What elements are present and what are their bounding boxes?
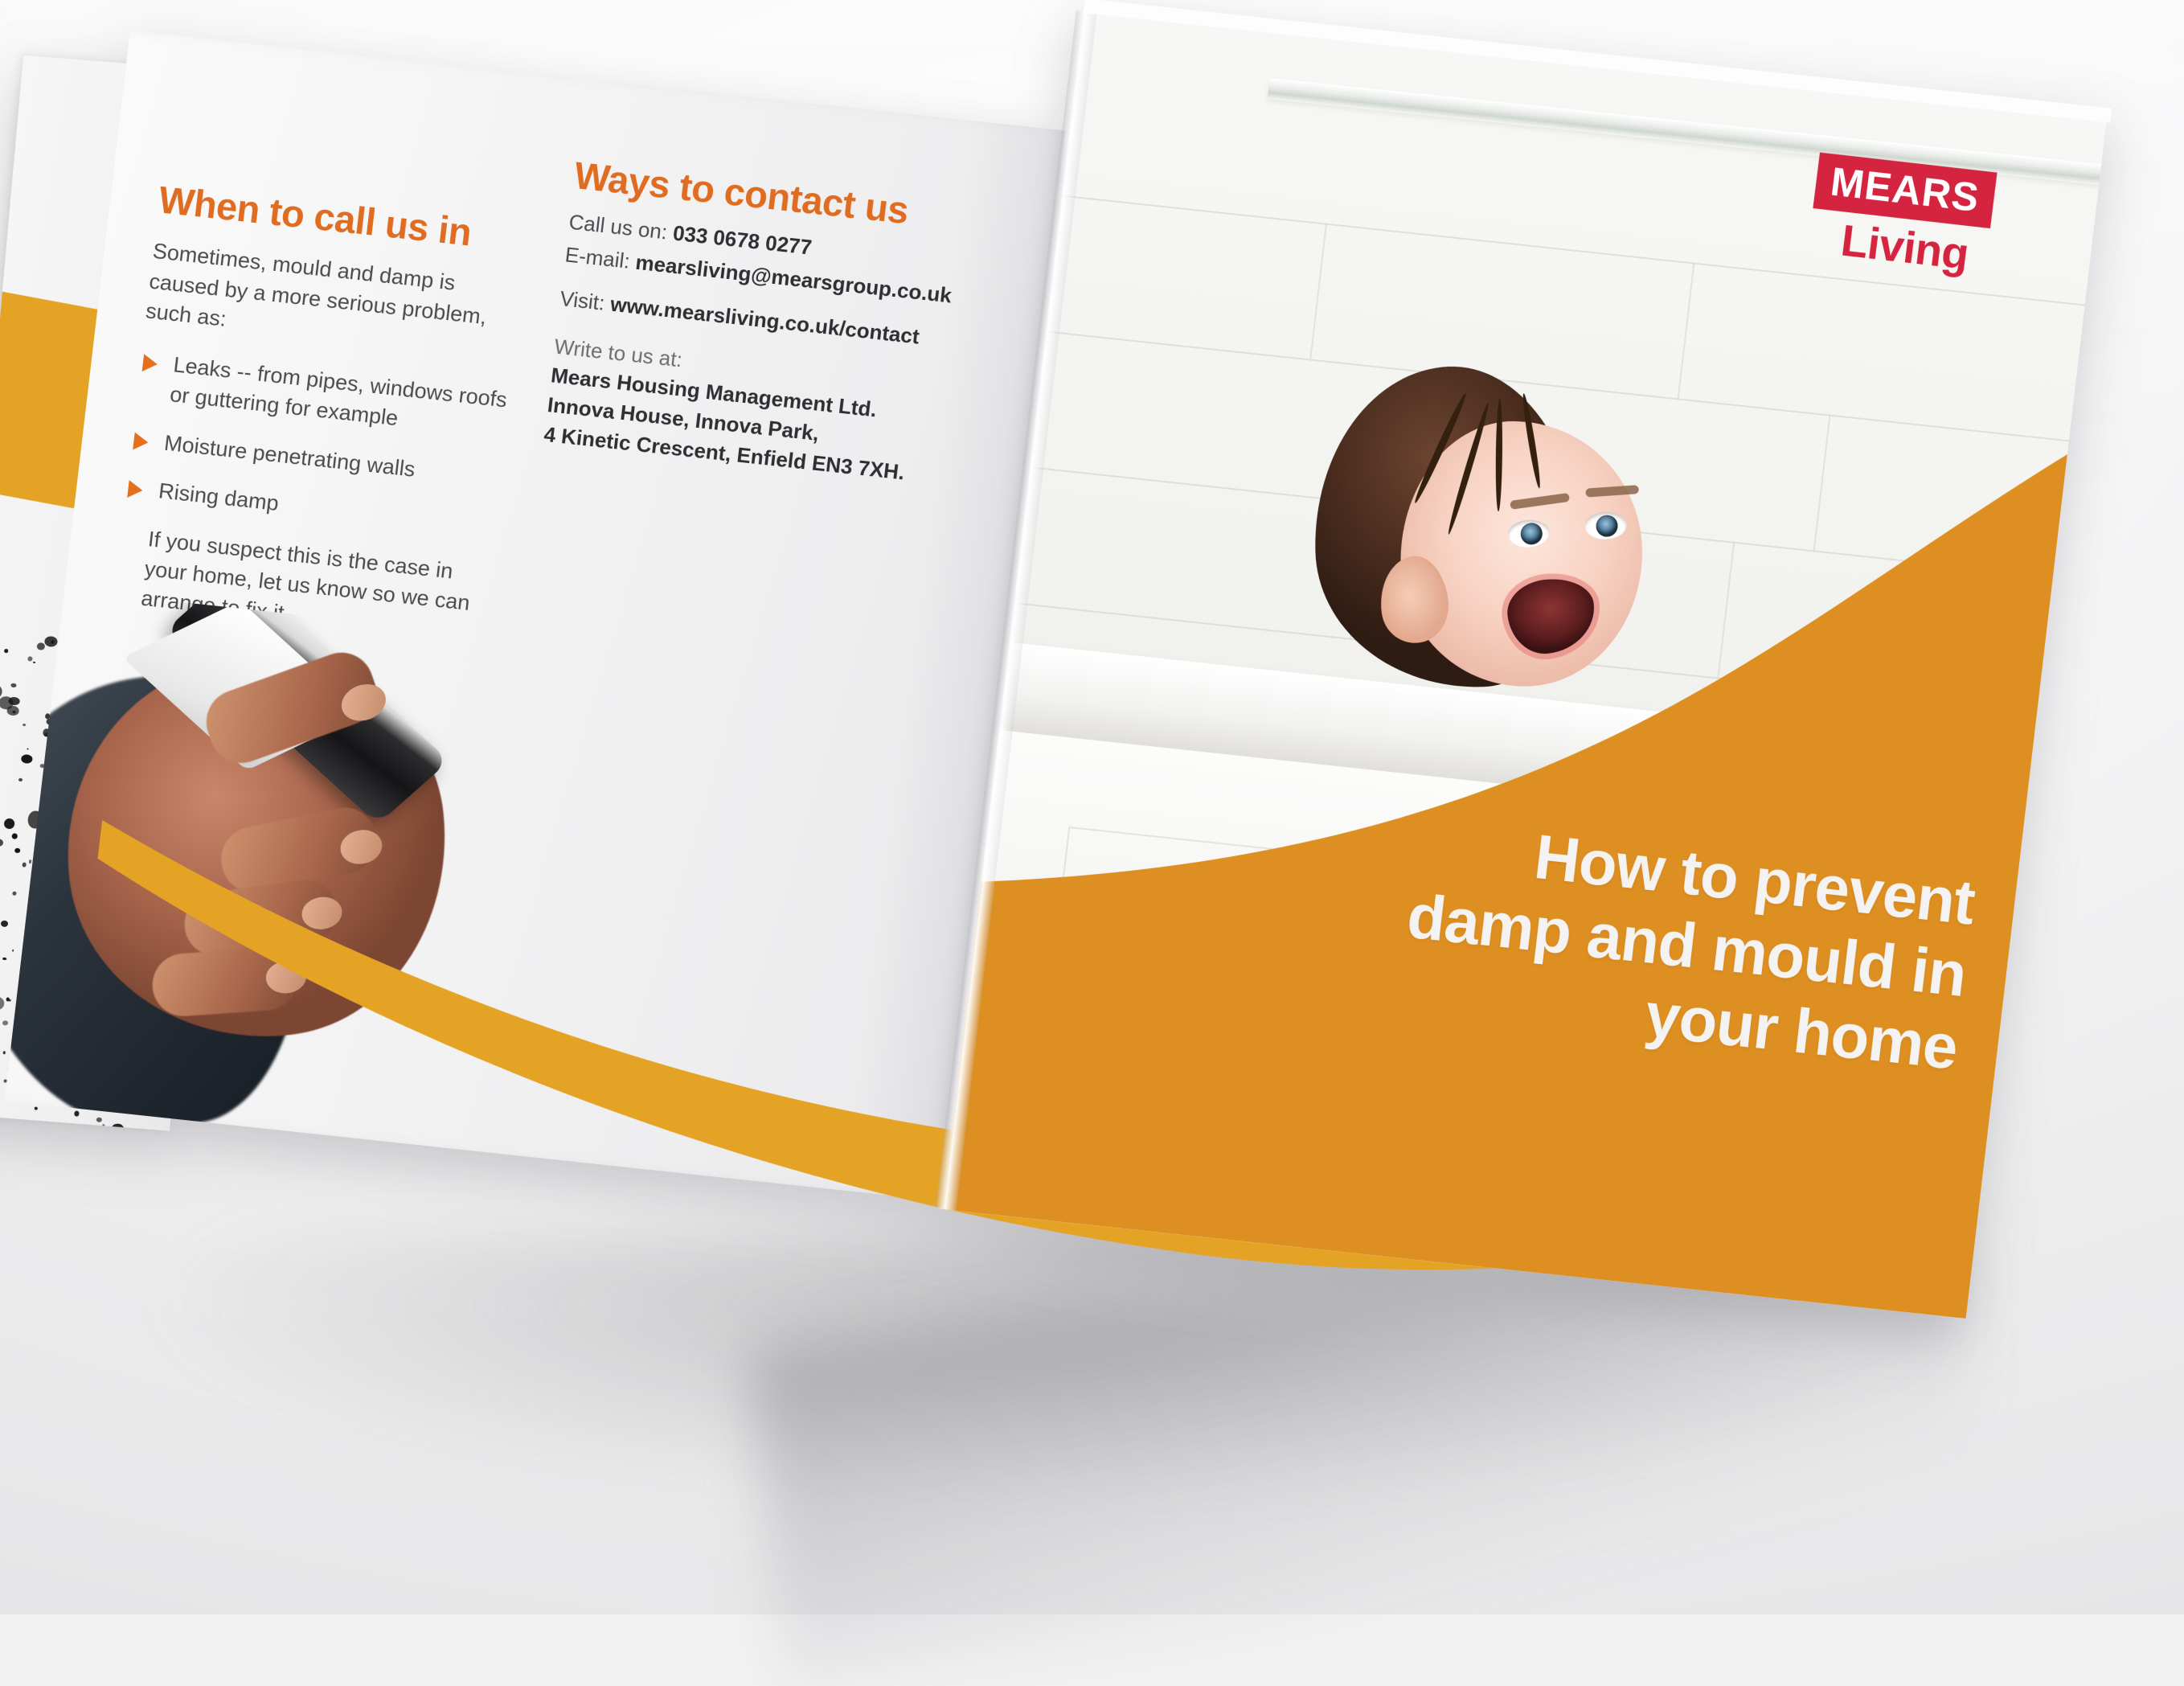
triangle-bullet-icon <box>127 480 143 499</box>
front-cover-panel: How to prevent damp and mould in your ho… <box>943 11 2107 1319</box>
email-label: E-mail: <box>563 243 631 273</box>
studio-backdrop: When to call us in Sometimes, mould and … <box>0 0 2184 1614</box>
triangle-bullet-icon <box>133 432 149 451</box>
phone-label: Call us on: <box>568 210 669 244</box>
bullet-text: Rising damp <box>158 479 281 516</box>
left-inner-panel: When to call us in Sometimes, mould and … <box>5 31 1066 1200</box>
when-to-call-intro: Sometimes, mould and damp is caused by a… <box>144 236 530 366</box>
logo-mark-text: MEARS <box>1828 159 1981 221</box>
when-to-call-column: When to call us in Sometimes, mould and … <box>111 179 537 650</box>
mears-living-logo: MEARS Living <box>1806 153 2027 285</box>
triangle-bullet-icon <box>142 354 158 373</box>
bullet-text: Leaks -- from pipes, windows roofs or gu… <box>169 352 509 430</box>
visit-label: Visit: <box>559 286 606 315</box>
when-to-call-bullet-list: Leaks -- from pipes, windows roofs or gu… <box>123 347 517 542</box>
bullet-text: Moisture penetrating walls <box>163 430 416 481</box>
open-brochure-spread: When to call us in Sometimes, mould and … <box>0 0 2118 1335</box>
hand-holding-smartphone-photo <box>5 588 608 1159</box>
